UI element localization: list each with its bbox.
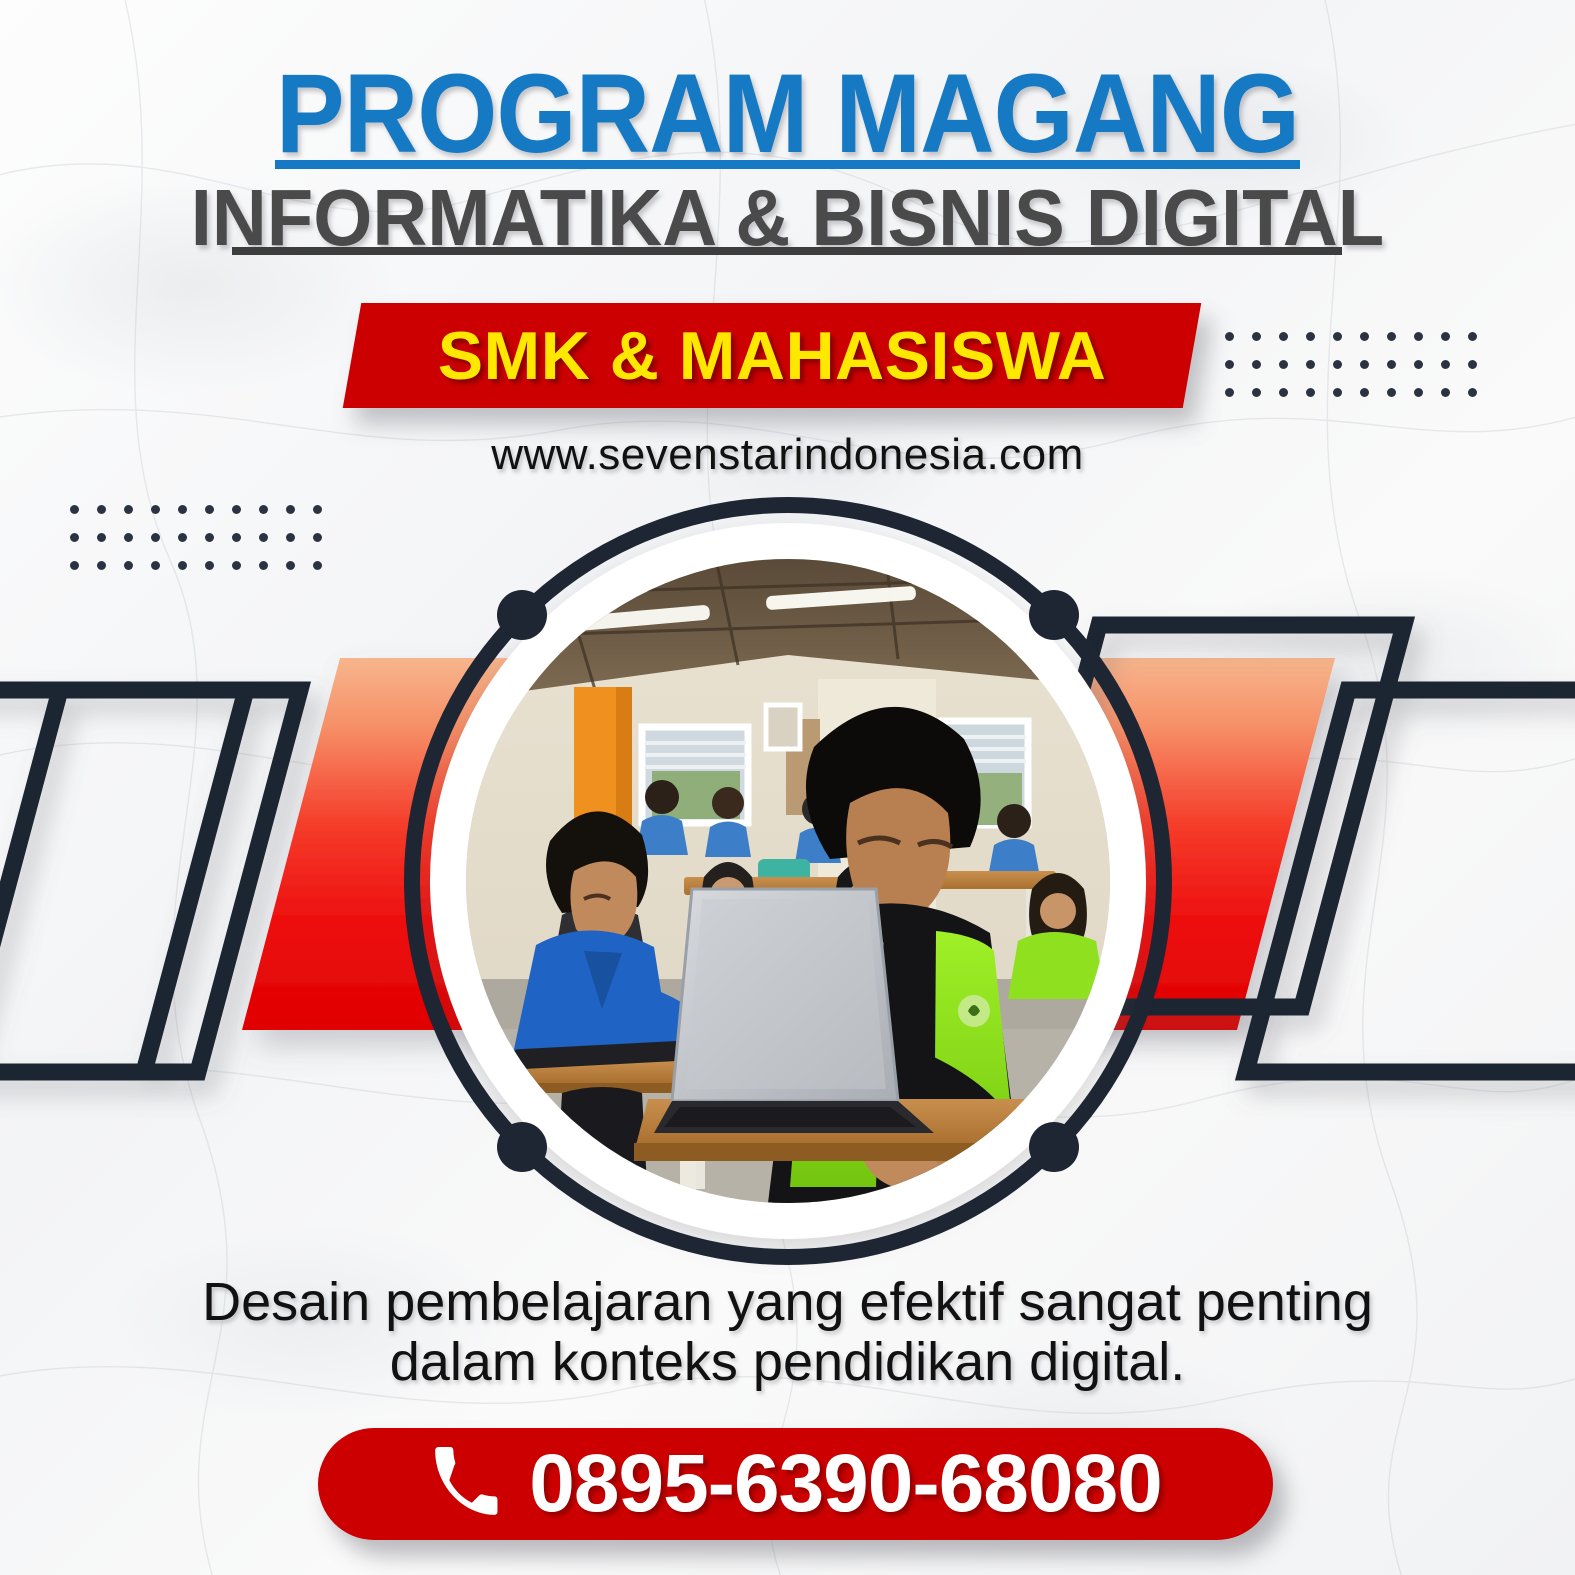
headline-secondary-underline <box>232 247 1342 255</box>
grid-dot <box>205 561 214 570</box>
grid-dot <box>1306 360 1315 369</box>
grid-dot <box>286 505 295 514</box>
grid-dot <box>70 561 79 570</box>
grid-dot <box>1252 332 1261 341</box>
grid-dot <box>97 533 106 542</box>
grid-dot <box>1414 332 1423 341</box>
grid-dot <box>1279 332 1288 341</box>
grid-dot <box>1360 360 1369 369</box>
grid-dot <box>286 561 295 570</box>
grid-dot <box>1441 388 1450 397</box>
audience-banner-label: SMK & MAHASISWA <box>352 303 1192 408</box>
grid-dot <box>97 561 106 570</box>
grid-dot <box>232 505 241 514</box>
grid-dot <box>259 561 268 570</box>
grid-dot <box>313 561 322 570</box>
grid-dot <box>1252 388 1261 397</box>
grid-dot <box>151 561 160 570</box>
contact-phone-button[interactable]: 0895-6390-68080 <box>318 1428 1273 1540</box>
ring-node-top-right <box>1029 590 1079 640</box>
grid-dot <box>313 505 322 514</box>
grid-dot <box>205 505 214 514</box>
grid-dot <box>1387 360 1396 369</box>
grid-dot <box>1306 332 1315 341</box>
grid-dot <box>124 561 133 570</box>
phone-icon <box>429 1447 503 1521</box>
headline-primary: PROGRAM MAGANG <box>63 58 1512 170</box>
grid-dot <box>259 533 268 542</box>
grid-dot <box>205 533 214 542</box>
grid-dot <box>97 505 106 514</box>
grid-dot <box>1225 360 1234 369</box>
classroom-photo-illustration <box>466 559 1110 1203</box>
audience-banner: SMK & MAHASISWA <box>343 303 1202 408</box>
tagline-line-1: Desain pembelajaran yang efektif sangat … <box>120 1272 1455 1332</box>
grid-dot <box>1441 332 1450 341</box>
grid-dot <box>1279 388 1288 397</box>
grid-dot <box>1441 360 1450 369</box>
grid-dot <box>1414 360 1423 369</box>
grid-dot <box>259 505 268 514</box>
grid-dot <box>1387 332 1396 341</box>
grid-dot <box>70 505 79 514</box>
grid-dot <box>1468 360 1477 369</box>
grid-dot <box>313 533 322 542</box>
grid-dot <box>1360 332 1369 341</box>
photo-medallion <box>402 495 1174 1267</box>
grid-dot <box>1468 388 1477 397</box>
grid-dot <box>178 505 187 514</box>
grid-dot <box>1360 388 1369 397</box>
tagline: Desain pembelajaran yang efektif sangat … <box>120 1272 1455 1393</box>
grid-dot <box>70 533 79 542</box>
grid-dot <box>1225 388 1234 397</box>
tagline-line-2: dalam konteks pendidikan digital. <box>120 1332 1455 1392</box>
phone-number: 0895-6390-68080 <box>529 1437 1161 1531</box>
grid-dot <box>178 561 187 570</box>
ring-node-bottom-left <box>497 1122 547 1172</box>
grid-dot <box>1252 360 1261 369</box>
grid-dot <box>178 533 187 542</box>
ring-node-top-left <box>497 590 547 640</box>
grid-dot <box>1279 360 1288 369</box>
grid-dot <box>1225 332 1234 341</box>
grid-dot <box>124 533 133 542</box>
grid-dot <box>1306 388 1315 397</box>
grid-dot <box>1414 388 1423 397</box>
grid-dot <box>1333 360 1342 369</box>
grid-dot <box>151 533 160 542</box>
grid-dot <box>1333 332 1342 341</box>
poster-canvas: PROGRAM MAGANG INFORMATIKA & BISNIS DIGI… <box>0 0 1575 1575</box>
headline-primary-underline <box>275 160 1300 169</box>
grid-dot <box>1468 332 1477 341</box>
classroom-photo <box>466 559 1110 1203</box>
headline-secondary: INFORMATIKA & BISNIS DIGITAL <box>39 178 1535 258</box>
grid-dot <box>232 561 241 570</box>
ring-node-bottom-right <box>1029 1122 1079 1172</box>
grid-dot <box>1333 388 1342 397</box>
grid-dot <box>232 533 241 542</box>
grid-dot <box>124 505 133 514</box>
grid-dot <box>1387 388 1396 397</box>
grid-dot <box>286 533 295 542</box>
grid-dot <box>151 505 160 514</box>
website-url[interactable]: www.sevenstarindonesia.com <box>0 430 1575 480</box>
